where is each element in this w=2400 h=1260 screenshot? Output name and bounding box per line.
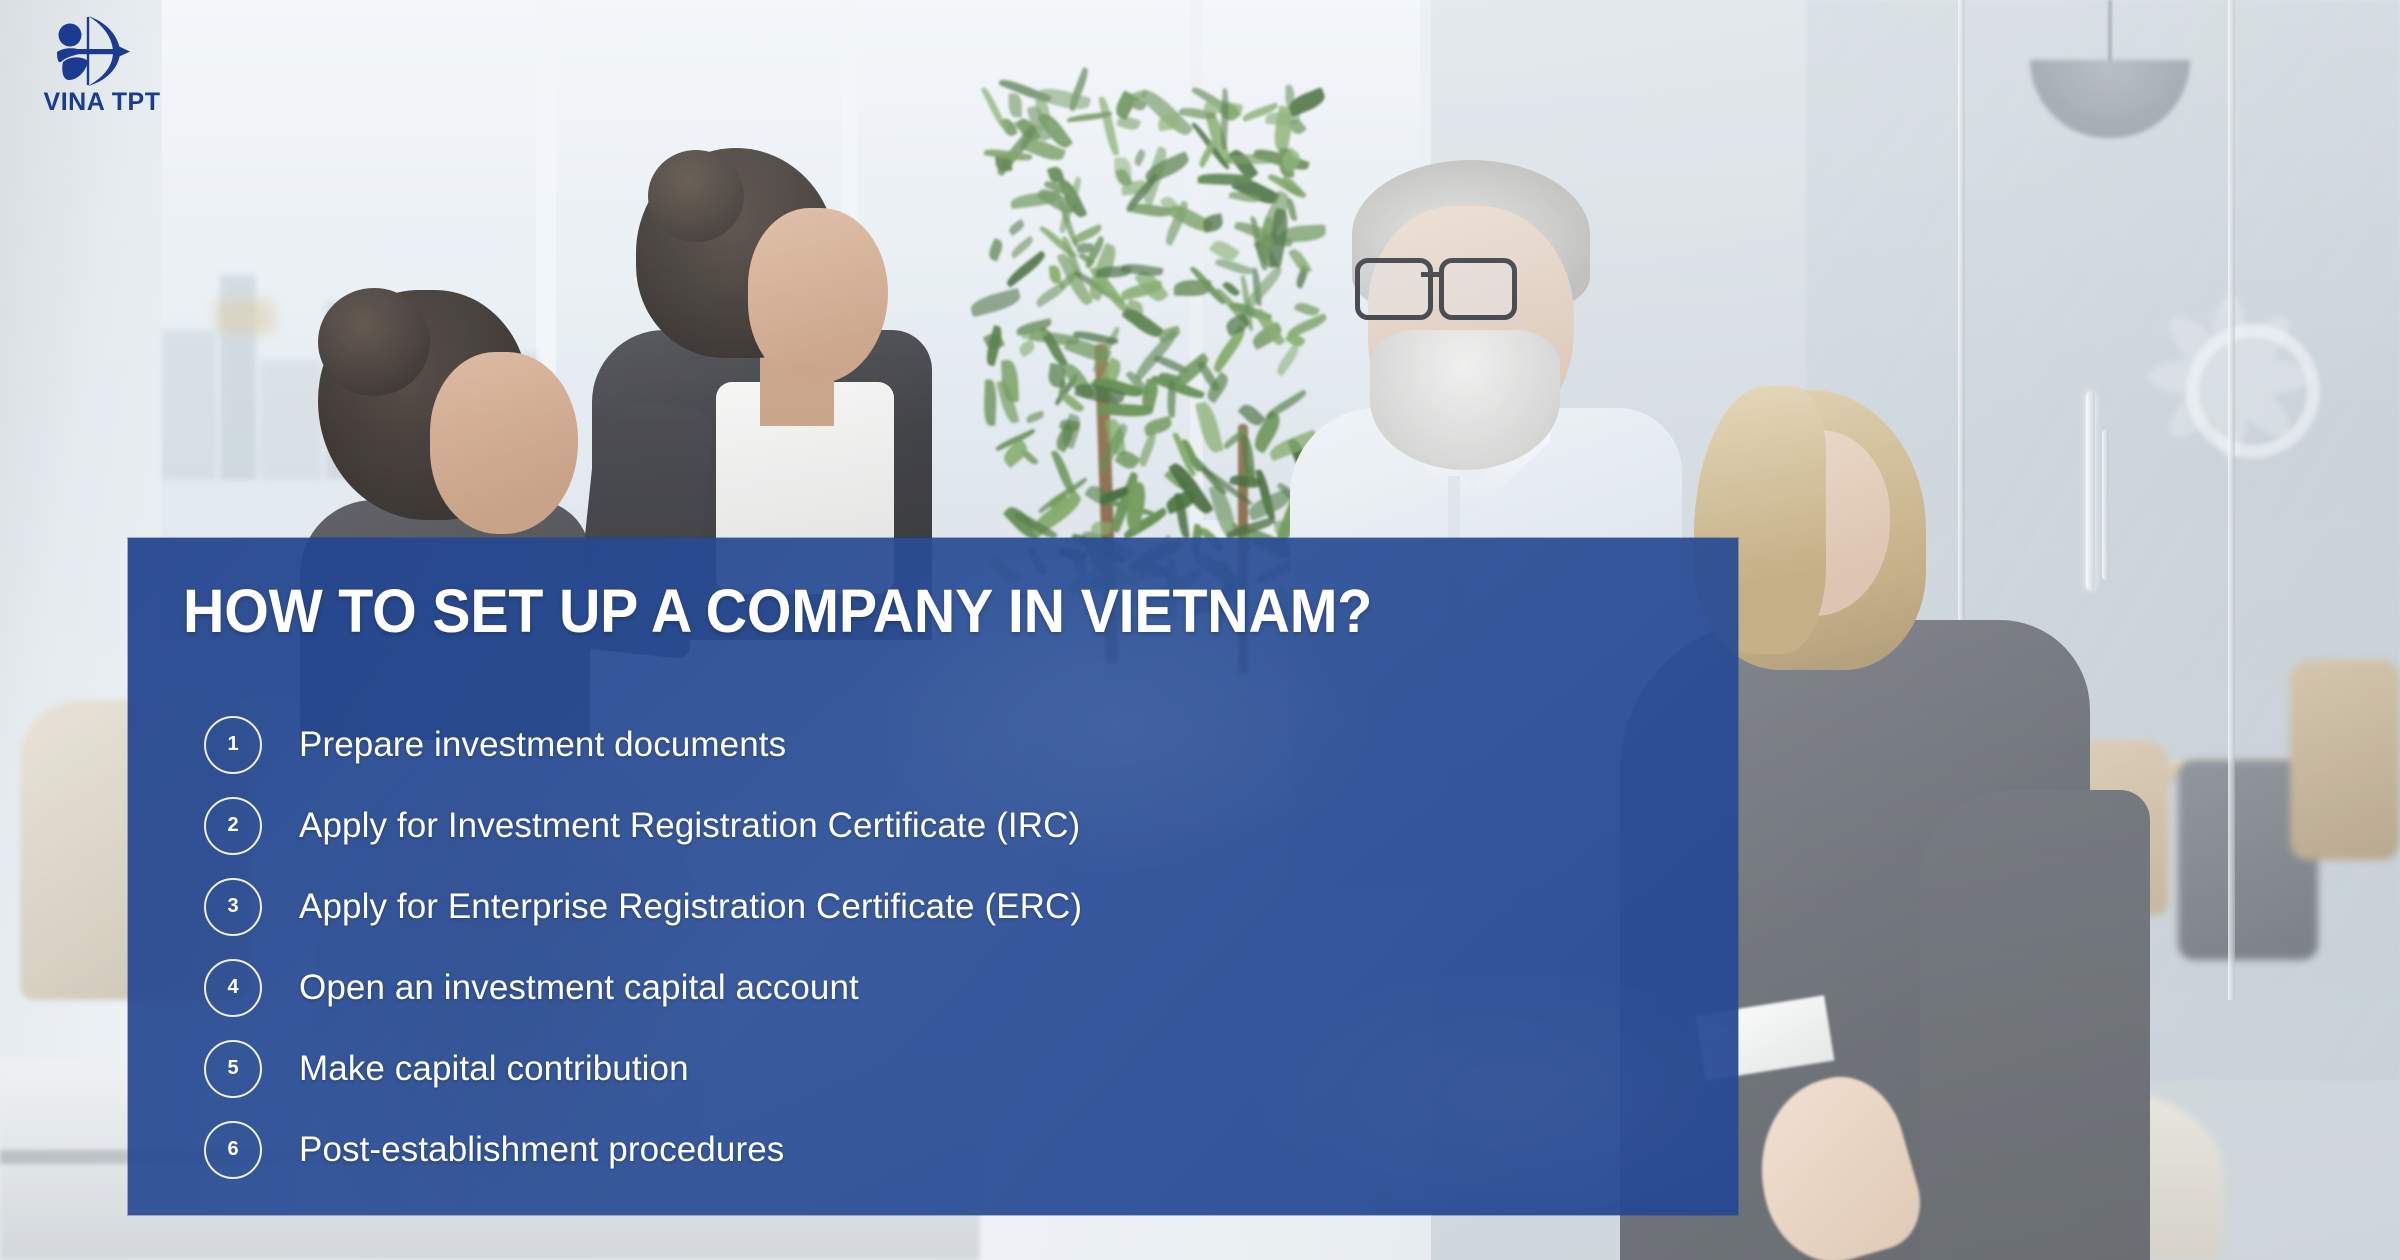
step-number-badge: 3: [204, 878, 262, 936]
steps-list: 1 Prepare investment documents 2 Apply f…: [204, 704, 1684, 1190]
step-label: Prepare investment documents: [299, 725, 786, 765]
step-label: Make capital contribution: [299, 1049, 689, 1089]
step-label: Post-establishment procedures: [299, 1130, 784, 1170]
infographic-canvas: []: [0, 0, 2400, 1260]
brand-logo[interactable]: VINA TPT: [18, 14, 186, 118]
list-item[interactable]: 4 Open an investment capital account: [204, 947, 1684, 1028]
step-number-badge: 6: [204, 1121, 262, 1179]
brand-name: VINA TPT: [18, 88, 186, 117]
step-label: Apply for Enterprise Registration Certif…: [299, 887, 1082, 927]
content-panel: HOW TO SET UP A COMPANY IN VIETNAM? 1 Pr…: [128, 538, 1738, 1215]
step-label: Apply for Investment Registration Certif…: [299, 806, 1080, 846]
step-number-badge: 4: [204, 959, 262, 1017]
step-number-badge: 1: [204, 716, 262, 774]
list-item[interactable]: 5 Make capital contribution: [204, 1028, 1684, 1109]
page-title: HOW TO SET UP A COMPANY IN VIETNAM?: [183, 576, 1593, 646]
list-item[interactable]: 6 Post-establishment procedures: [204, 1109, 1684, 1190]
step-number-badge: 5: [204, 1040, 262, 1098]
list-item[interactable]: 2 Apply for Investment Registration Cert…: [204, 785, 1684, 866]
archer-bow-icon: [44, 14, 132, 88]
list-item[interactable]: 3 Apply for Enterprise Registration Cert…: [204, 866, 1684, 947]
step-number-badge: 2: [204, 797, 262, 855]
list-item[interactable]: 1 Prepare investment documents: [204, 704, 1684, 785]
step-label: Open an investment capital account: [299, 968, 859, 1008]
